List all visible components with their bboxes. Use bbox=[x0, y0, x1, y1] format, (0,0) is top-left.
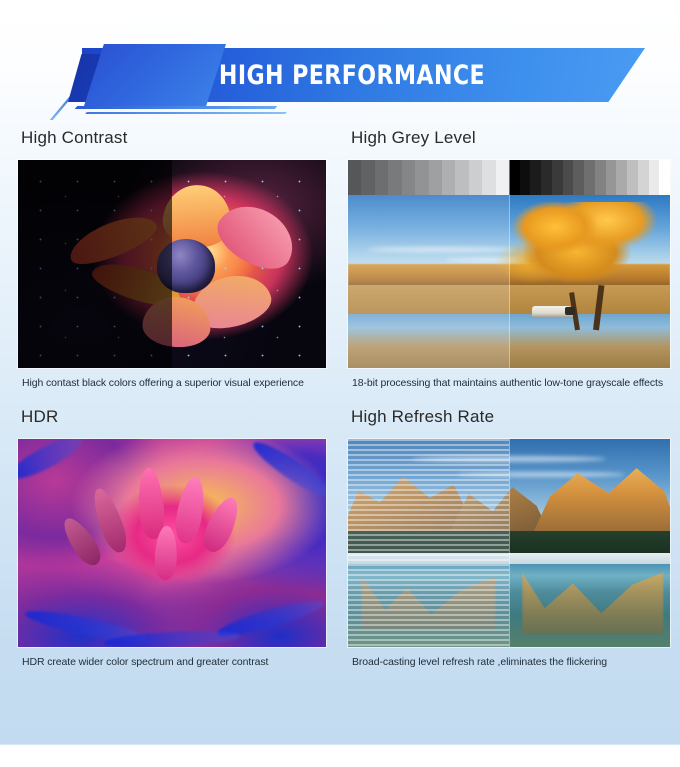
hdr-blue-edge bbox=[249, 439, 326, 503]
grayscale-wedge-right bbox=[509, 160, 670, 195]
banner-accent-line-lower-1 bbox=[75, 106, 278, 109]
flicker-scanlines bbox=[348, 439, 509, 647]
feature-image-high-grey-level bbox=[348, 160, 670, 368]
feature-card-high-grey-level: High Grey Level bbox=[340, 128, 680, 389]
grayscale-step bbox=[616, 160, 627, 195]
grayscale-step bbox=[530, 160, 541, 195]
feature-caption-high-refresh-rate: Broad-casting level refresh rate ,elimin… bbox=[352, 656, 670, 668]
hdr-blue-edge bbox=[18, 439, 86, 486]
feature-image-hdr bbox=[18, 439, 326, 647]
feature-title-high-contrast: High Contrast bbox=[21, 128, 326, 148]
feature-card-high-contrast: High Contrast High contast black colors … bbox=[0, 128, 340, 389]
comparison-divider bbox=[509, 439, 510, 647]
feature-caption-high-contrast: High contast black colors offering a sup… bbox=[22, 377, 326, 389]
feature-image-high-contrast bbox=[18, 160, 326, 368]
hdr-petal bbox=[198, 493, 244, 556]
grayscale-step bbox=[627, 160, 638, 195]
grayscale-step bbox=[659, 160, 670, 195]
grayscale-step bbox=[649, 160, 660, 195]
comparison-divider bbox=[509, 160, 510, 368]
feature-caption-high-grey-level: 18-bit processing that maintains authent… bbox=[352, 377, 670, 389]
hdr-petal bbox=[172, 475, 208, 545]
feature-caption-hdr: HDR create wider color spectrum and grea… bbox=[22, 656, 326, 668]
grayscale-step bbox=[552, 160, 563, 195]
grayscale-step bbox=[520, 160, 531, 195]
grayscale-step bbox=[584, 160, 595, 195]
banner-accent-line-lower-2 bbox=[85, 112, 287, 114]
grayscale-step bbox=[509, 160, 520, 195]
grayscale-step bbox=[563, 160, 574, 195]
grayscale-step bbox=[595, 160, 606, 195]
grey-dim-half bbox=[348, 160, 509, 368]
banner: HIGH PERFORMANCE bbox=[0, 34, 680, 118]
grayscale-step bbox=[606, 160, 617, 195]
feature-grid: High Contrast High contast black colors … bbox=[0, 128, 680, 668]
feature-image-high-refresh-rate bbox=[348, 439, 670, 647]
page-root: HIGH PERFORMANCE High Contrast bbox=[0, 0, 680, 767]
feature-title-high-refresh-rate: High Refresh Rate bbox=[351, 407, 670, 427]
feature-card-high-refresh-rate: High Refresh Rate Br bbox=[340, 389, 680, 668]
golden-tree bbox=[496, 202, 663, 316]
feature-row-1: High Contrast High contast black colors … bbox=[0, 128, 680, 389]
grayscale-step bbox=[638, 160, 649, 195]
banner-title: HIGH PERFORMANCE bbox=[131, 48, 574, 102]
parked-car bbox=[532, 306, 574, 318]
grayscale-step bbox=[573, 160, 584, 195]
grayscale-step bbox=[541, 160, 552, 195]
feature-title-high-grey-level: High Grey Level bbox=[351, 128, 670, 148]
feature-row-2: HDR HDR create wider color spectrum and … bbox=[0, 389, 680, 668]
feature-title-hdr: HDR bbox=[21, 407, 326, 427]
contrast-dark-half bbox=[18, 160, 172, 368]
feature-card-hdr: HDR HDR create wider color spectrum and … bbox=[0, 389, 340, 668]
